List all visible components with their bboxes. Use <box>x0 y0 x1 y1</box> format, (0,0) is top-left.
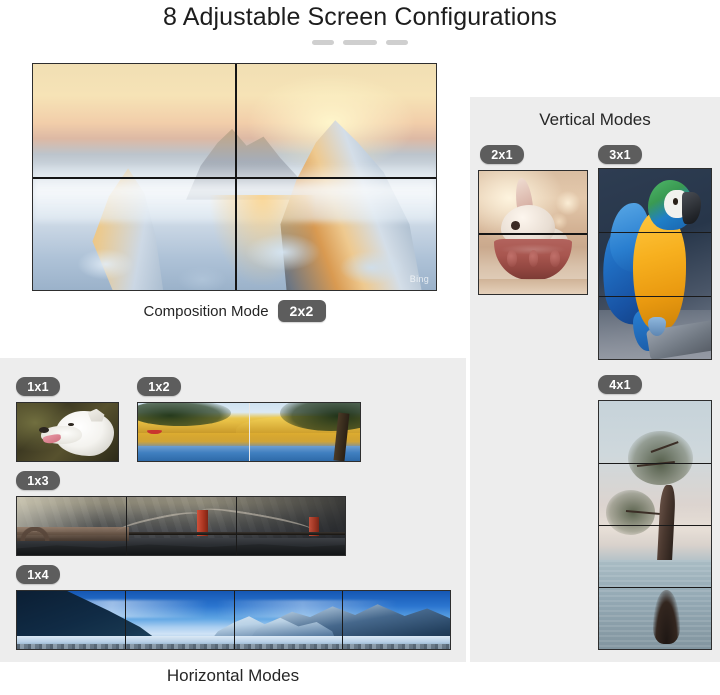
composition-mode-badge: 2x2 <box>278 300 326 322</box>
photo-golden-gate-bridge <box>17 497 345 555</box>
photo-white-samoyed-dog <box>17 403 118 461</box>
divider-dash-2 <box>343 40 377 45</box>
photo-blue-gold-macaw <box>599 169 711 359</box>
composition-mode-caption: Composition Mode 2x2 <box>32 300 437 322</box>
title-divider <box>0 36 720 48</box>
badge-2x1: 2x1 <box>480 145 524 164</box>
photo-snowy-mountain-sunrise: Bing <box>33 64 436 290</box>
horizontal-modes-title: Horizontal Modes <box>0 666 466 686</box>
screen-1x1[interactable] <box>16 402 119 462</box>
photo-rabbit-in-bowl <box>479 171 587 294</box>
badge-1x4: 1x4 <box>16 565 60 584</box>
bing-watermark: Bing <box>410 274 429 284</box>
screen-3x1[interactable] <box>598 168 712 360</box>
screen-1x2[interactable] <box>137 402 361 462</box>
photo-lone-tree-in-water <box>599 401 711 649</box>
screen-1x4[interactable] <box>16 590 451 650</box>
photo-glacier-panorama <box>17 591 450 649</box>
horizontal-modes-panel: 1x1 1x2 1x3 1x4 <box>0 358 466 662</box>
screen-1x3[interactable] <box>16 496 346 556</box>
divider-dash-1 <box>312 40 334 45</box>
badge-4x1: 4x1 <box>598 375 642 394</box>
badge-1x1: 1x1 <box>16 377 60 396</box>
screen-4x1[interactable] <box>598 400 712 650</box>
composition-mode-label: Composition Mode <box>143 303 268 320</box>
page-title: 8 Adjustable Screen Configurations <box>0 0 720 34</box>
divider-dash-3 <box>386 40 408 45</box>
badge-3x1: 3x1 <box>598 145 642 164</box>
photo-autumn-lake <box>138 403 360 461</box>
badge-1x3: 1x3 <box>16 471 60 490</box>
screen-2x1[interactable] <box>478 170 588 295</box>
vertical-modes-panel: Vertical Modes 2x1 3x1 4x1 <box>470 97 720 662</box>
vertical-modes-title: Vertical Modes <box>470 110 720 130</box>
composition-screen-2x2[interactable]: Bing <box>32 63 437 291</box>
badge-1x2: 1x2 <box>137 377 181 396</box>
